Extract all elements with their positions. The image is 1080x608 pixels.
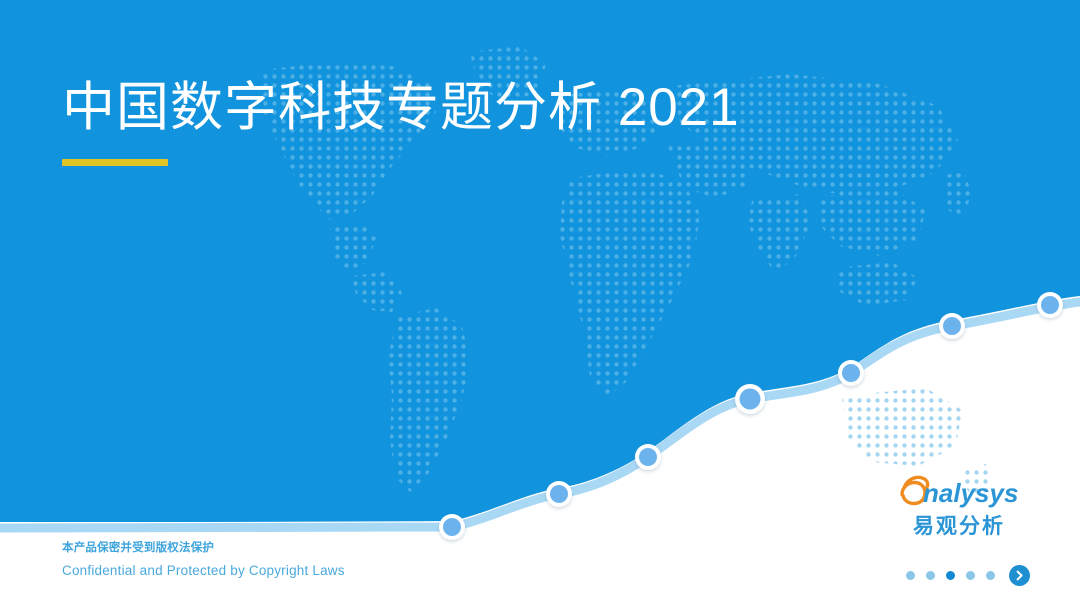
analysys-logo: nalysys 易观分析 bbox=[896, 473, 1022, 540]
page-title: 中国数字科技专题分析 2021 bbox=[62, 78, 740, 137]
title-block: 中国数字科技专题分析 2021 bbox=[62, 78, 740, 166]
logo-wordmark-rest: nalysys bbox=[923, 478, 1018, 508]
pagination-dot-1[interactable] bbox=[906, 571, 915, 580]
title-underline-rule bbox=[62, 159, 168, 166]
logo-name-cn: 易观分析 bbox=[896, 510, 1022, 540]
next-slide-button[interactable] bbox=[1009, 565, 1030, 586]
pagination-dot-3[interactable] bbox=[946, 571, 955, 580]
logo-wordmark: nalysys bbox=[896, 473, 1022, 509]
pagination-dot-4[interactable] bbox=[966, 571, 975, 580]
slide-pagination[interactable] bbox=[906, 565, 1030, 586]
logo-wordmark-svg: nalysys bbox=[896, 473, 1022, 509]
pagination-dot-5[interactable] bbox=[986, 571, 995, 580]
copyright-notice-en: Confidential and Protected by Copyright … bbox=[62, 561, 345, 582]
slide-canvas: 中国数字科技专题分析 2021 本产品保密并受到版权法保护 Confidenti… bbox=[0, 0, 1080, 608]
copyright-notice: 本产品保密并受到版权法保护 Confidential and Protected… bbox=[62, 540, 345, 582]
chevron-right-icon bbox=[1014, 570, 1025, 581]
pagination-dot-2[interactable] bbox=[926, 571, 935, 580]
copyright-notice-cn: 本产品保密并受到版权法保护 bbox=[62, 540, 345, 558]
